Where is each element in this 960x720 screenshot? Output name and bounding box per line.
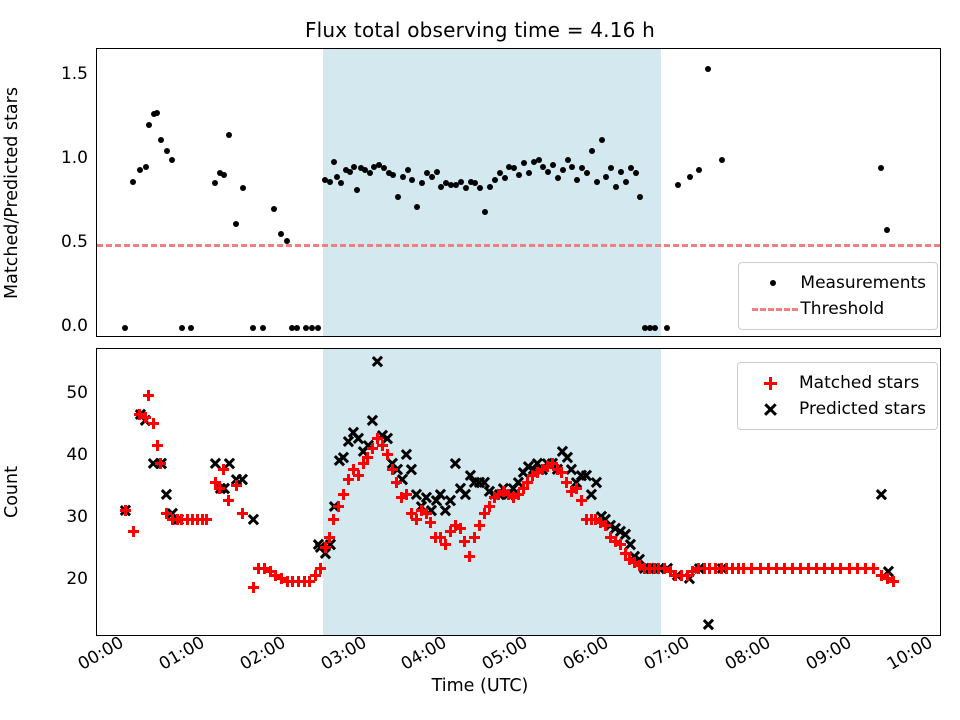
data-point (492, 177, 498, 183)
data-point (130, 179, 136, 185)
data-point (188, 325, 194, 331)
legend-label-threshold: Threshold (800, 299, 884, 319)
data-point (331, 159, 337, 165)
data-point (154, 110, 160, 116)
data-point (687, 174, 693, 180)
data-point (221, 172, 227, 178)
data-point (565, 157, 571, 163)
y-tick-label: 50 (30, 383, 88, 403)
bottom-panel-legend: Matched stars Predicted stars (737, 362, 938, 430)
data-point (618, 169, 624, 175)
data-point (884, 227, 890, 233)
plus-marker-icon (747, 373, 799, 393)
figure-root: Flux total observing time = 4.16 h 0.00.… (0, 0, 960, 720)
data-point (599, 137, 605, 143)
legend-label-matched-stars: Matched stars (799, 373, 919, 393)
x-axis-title: Time (UTC) (0, 676, 960, 696)
data-point (284, 238, 290, 244)
bottom-panel-y-axis-title: Count (2, 466, 22, 518)
data-point (327, 179, 333, 185)
data-point (400, 174, 406, 180)
y-tick-label: 1.0 (30, 148, 88, 168)
data-point (164, 148, 170, 154)
y-tick-label: 0.5 (30, 232, 88, 252)
data-point (158, 137, 164, 143)
data-point (137, 167, 143, 173)
top-panel-legend: Measurements Threshold (738, 262, 938, 330)
data-point (696, 167, 702, 173)
data-point (623, 179, 629, 185)
y-tick-label: 40 (30, 445, 88, 465)
data-point (122, 325, 128, 331)
data-point (143, 164, 149, 170)
top-panel-y-axis-title: Matched/Predicted stars (2, 87, 22, 299)
data-point (536, 157, 542, 163)
legend-item-measurements: Measurements (748, 270, 926, 296)
data-point (550, 162, 556, 168)
measurements-marker-icon (748, 273, 800, 293)
data-point (278, 231, 284, 237)
data-point (434, 169, 440, 175)
data-point (315, 325, 321, 331)
data-point (169, 157, 175, 163)
data-point (271, 206, 277, 212)
data-point (705, 66, 711, 72)
data-point (390, 172, 396, 178)
data-point (405, 167, 411, 173)
data-point (878, 165, 884, 171)
data-point (212, 180, 218, 186)
data-point (351, 164, 357, 170)
data-point (719, 157, 725, 163)
data-point (675, 182, 681, 188)
y-tick-label: 30 (30, 507, 88, 527)
data-point (303, 325, 309, 331)
shaded-time-region (323, 49, 661, 336)
cross-marker-icon (747, 399, 799, 419)
data-point (545, 169, 551, 175)
legend-item-predicted-stars: Predicted stars (747, 396, 926, 422)
data-point (226, 132, 232, 138)
data-point (233, 221, 239, 227)
data-point (633, 170, 639, 176)
legend-label-predicted-stars: Predicted stars (799, 399, 926, 419)
threshold-line (97, 244, 940, 247)
data-point (613, 184, 619, 190)
y-tick-label: 20 (30, 569, 88, 589)
data-point (294, 325, 300, 331)
data-point (250, 325, 256, 331)
data-point (179, 325, 185, 331)
data-point (502, 175, 508, 181)
data-point (487, 184, 493, 190)
data-point (146, 122, 152, 128)
data-point (594, 179, 600, 185)
y-tick-label: 1.5 (30, 64, 88, 84)
data-point (458, 179, 464, 185)
data-point (664, 325, 670, 331)
legend-item-matched-stars: Matched stars (747, 370, 926, 396)
legend-label-measurements: Measurements (800, 273, 926, 293)
legend-item-threshold: Threshold (748, 296, 926, 322)
y-tick-label: 0.0 (30, 316, 88, 336)
data-point (429, 174, 435, 180)
data-point (395, 194, 401, 200)
data-point (652, 325, 658, 331)
data-point (334, 174, 340, 180)
data-point (367, 170, 373, 176)
page-title: Flux total observing time = 4.16 h (0, 18, 960, 42)
threshold-line-icon (748, 299, 800, 319)
data-point (260, 325, 266, 331)
data-point (560, 167, 566, 173)
data-point (240, 185, 246, 191)
